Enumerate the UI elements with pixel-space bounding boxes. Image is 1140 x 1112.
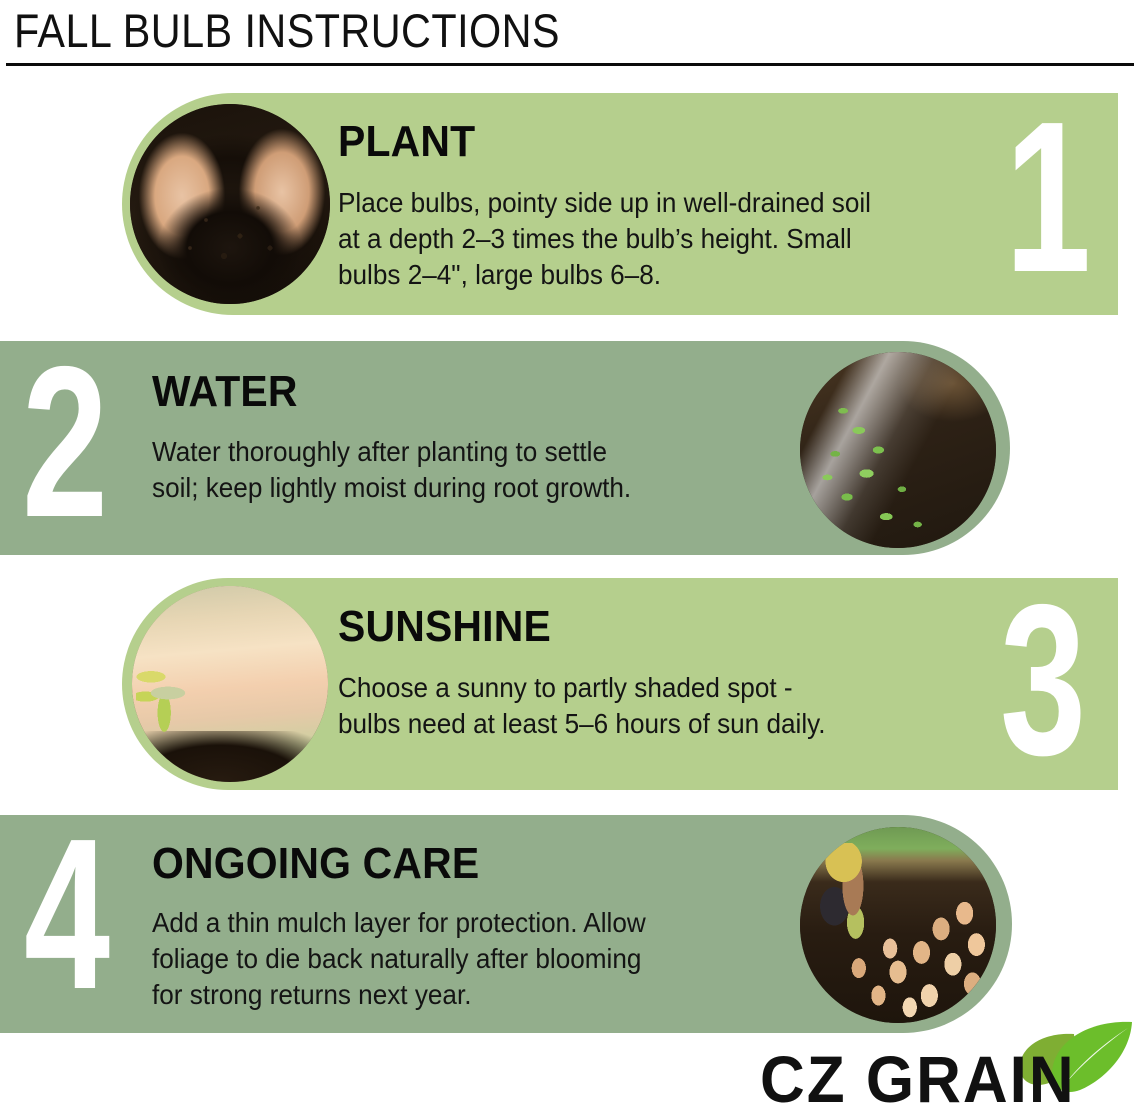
page-title: FALL BULB INSTRUCTIONS	[14, 2, 560, 60]
step-4-heading: ONGOING CARE	[152, 841, 479, 887]
brand-logo: CZ GRAIN	[760, 1022, 1132, 1108]
step-1-body: Place bulbs, pointy side up in well-drai…	[338, 185, 1003, 293]
brand-name: CZ GRAIN	[760, 1048, 1076, 1112]
step-card-1: PLANT Place bulbs, pointy side up in wel…	[0, 93, 1140, 315]
sunrise-seedling-photo	[132, 586, 328, 782]
step-card-4: ONGOING CARE Add a thin mulch layer for …	[0, 815, 1140, 1033]
step-2-body: Water thoroughly after planting to settl…	[152, 434, 760, 506]
step-3-heading: SUNSHINE	[338, 604, 551, 650]
watering-seedlings-photo	[800, 352, 996, 548]
step-2-heading: WATER	[152, 369, 298, 415]
header-divider	[6, 63, 1134, 66]
step-2-number: 2	[22, 339, 108, 544]
step-4-number: 4	[24, 811, 110, 1016]
step-card-2: WATER Water thoroughly after planting to…	[0, 341, 1140, 555]
hands-holding-soil-photo	[130, 104, 330, 304]
infographic-page: FALL BULB INSTRUCTIONS PLANT Place bulbs…	[0, 0, 1140, 1112]
step-1-heading: PLANT	[338, 119, 475, 165]
step-1-number: 1	[1005, 94, 1091, 299]
step-card-3: SUNSHINE Choose a sunny to partly shaded…	[0, 578, 1140, 790]
step-4-body: Add a thin mulch layer for protection. A…	[152, 905, 779, 1013]
step-3-number: 3	[1000, 577, 1086, 782]
step-3-body: Choose a sunny to partly shaded spot - b…	[338, 670, 965, 742]
planting-bulbs-photo	[800, 827, 996, 1023]
